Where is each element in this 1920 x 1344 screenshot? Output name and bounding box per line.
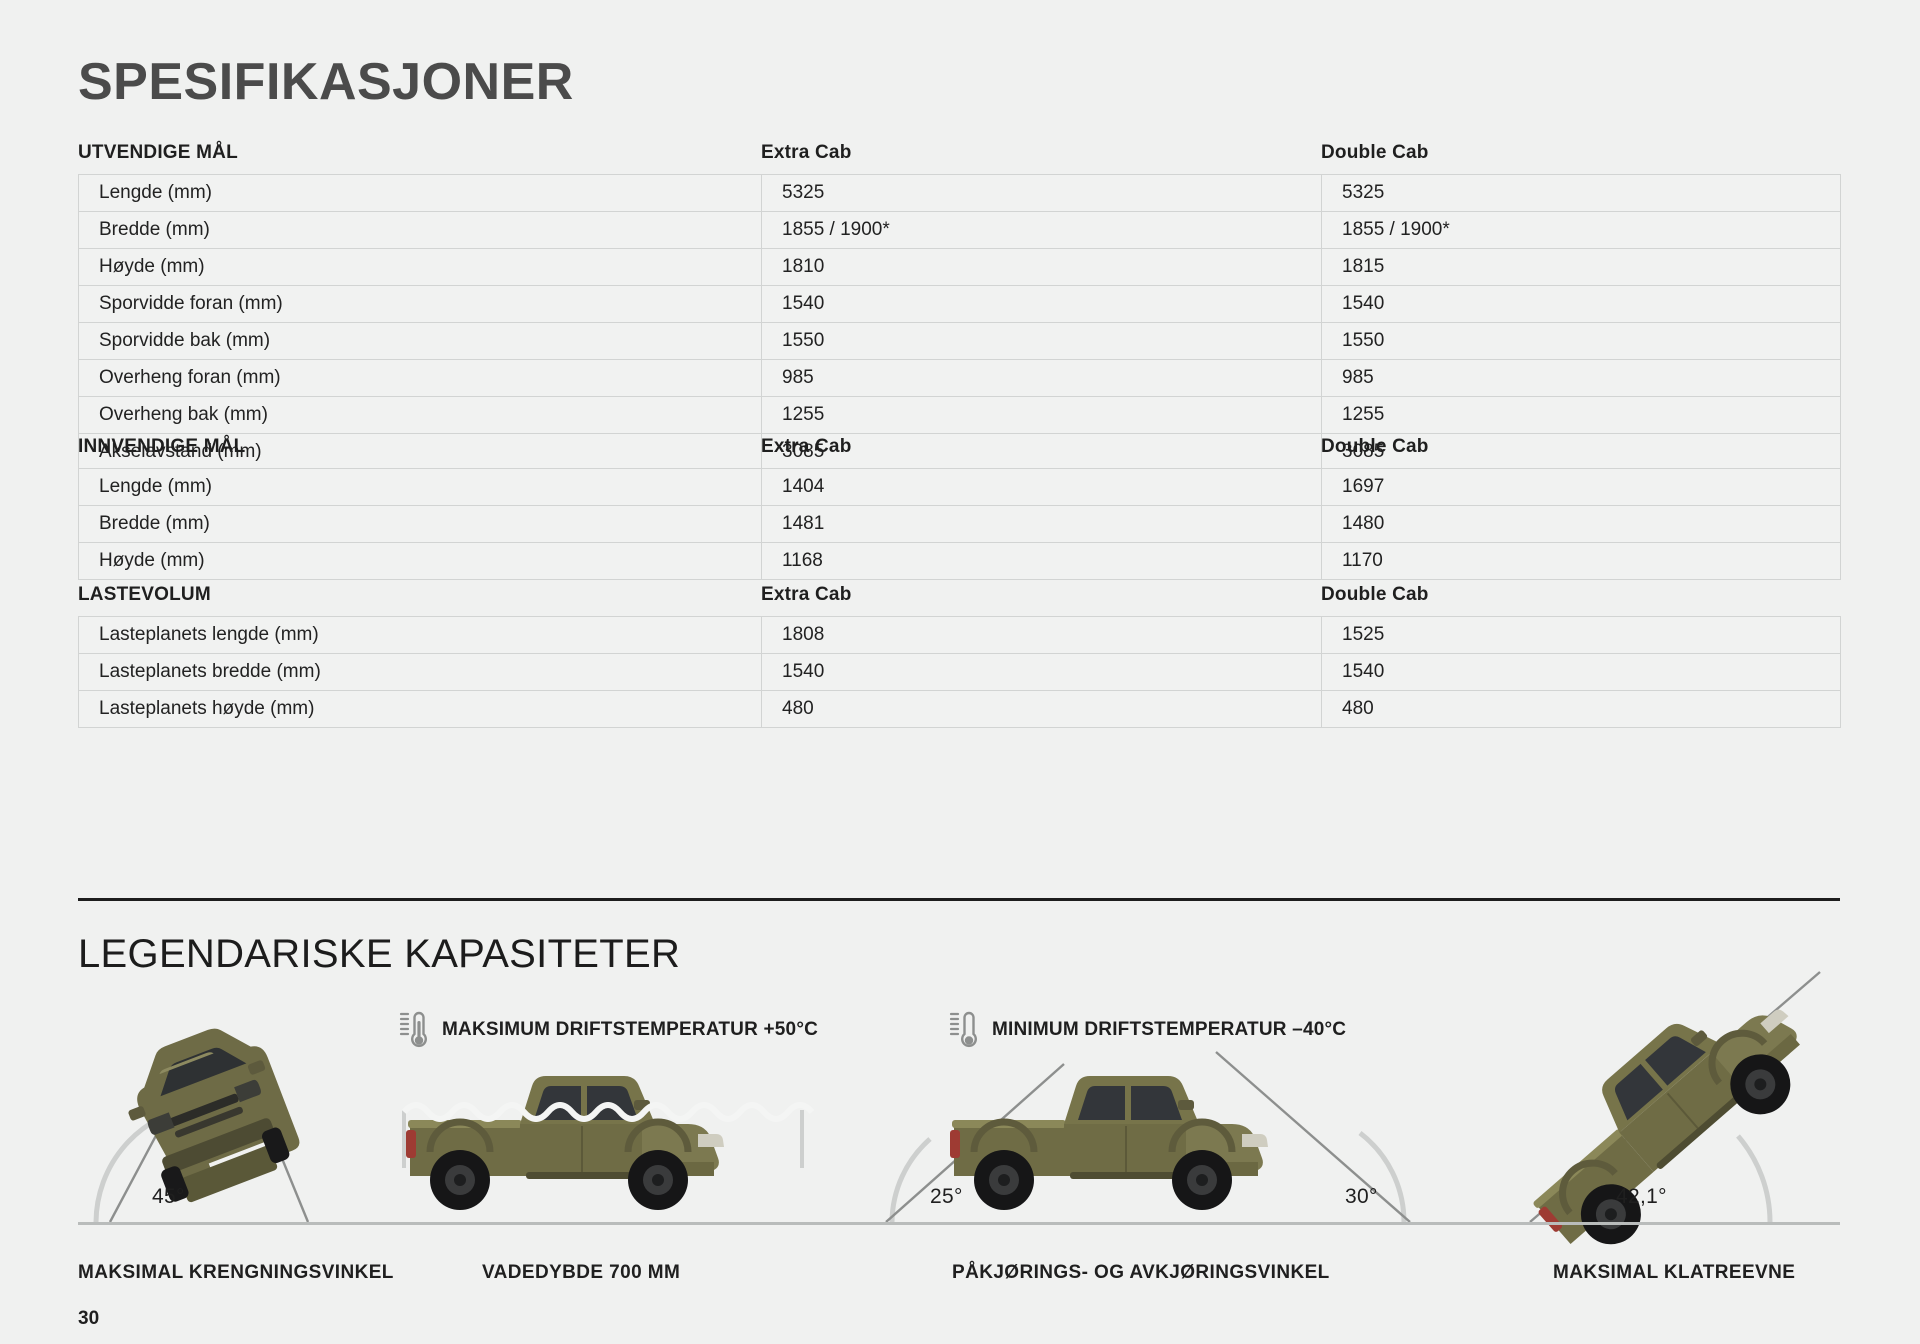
spec-row-double-cab-value: 1540 — [1322, 654, 1841, 691]
departure-angle-value: 30° — [1345, 1185, 1378, 1209]
spec-row-extra-cab-value: 1855 / 1900* — [762, 212, 1322, 249]
caption-max-tilt-angle: MAKSIMAL KRENGNINGSVINKEL — [78, 1262, 394, 1284]
spec-row-label: Lasteplanets bredde (mm) — [79, 654, 762, 691]
spec-row-double-cab-value: 5325 — [1322, 175, 1841, 212]
ground-line — [78, 1222, 1840, 1225]
spec-row-label: Sporvidde bak (mm) — [79, 323, 762, 360]
column-header-extra-cab: Extra Cab — [761, 436, 1321, 458]
spec-section-innvendige-mal: INNVENDIGE MÅL Extra Cab Double Cab Leng… — [78, 422, 1840, 580]
spec-section-header: LASTEVOLUM Extra Cab Double Cab — [78, 570, 1840, 606]
spec-section-title: UTVENDIGE MÅL — [78, 142, 761, 164]
spec-row-label: Lasteplanets høyde (mm) — [79, 691, 762, 728]
section-divider — [78, 898, 1840, 901]
table-row: Lengde (mm)53255325 — [79, 175, 1841, 212]
spec-section-utvendige-mal: UTVENDIGE MÅL Extra Cab Double Cab Lengd… — [78, 128, 1840, 471]
spec-page: SPESIFIKASJONER UTVENDIGE MÅL Extra Cab … — [0, 0, 1920, 1344]
table-row: Lengde (mm)14041697 — [79, 469, 1841, 506]
spec-row-double-cab-value: 985 — [1322, 360, 1841, 397]
table-row: Bredde (mm)14811480 — [79, 506, 1841, 543]
column-header-extra-cab: Extra Cab — [761, 142, 1321, 164]
spec-section-title: LASTEVOLUM — [78, 584, 761, 606]
spec-row-double-cab-value: 1550 — [1322, 323, 1841, 360]
spec-row-label: Bredde (mm) — [79, 506, 762, 543]
spec-row-double-cab-value: 1855 / 1900* — [1322, 212, 1841, 249]
table-row: Lasteplanets høyde (mm)480480 — [79, 691, 1841, 728]
tilt-angle-illustration — [78, 990, 398, 1225]
spec-row-extra-cab-value: 1550 — [762, 323, 1322, 360]
spec-row-extra-cab-value: 5325 — [762, 175, 1322, 212]
spec-row-double-cab-value: 1697 — [1322, 469, 1841, 506]
table-row: Lasteplanets bredde (mm)15401540 — [79, 654, 1841, 691]
spec-section-lastevolum: LASTEVOLUM Extra Cab Double Cab Lastepla… — [78, 570, 1840, 728]
spec-table: Lengde (mm)14041697Bredde (mm)14811480Hø… — [78, 468, 1841, 580]
spec-section-header: INNVENDIGE MÅL Extra Cab Double Cab — [78, 422, 1840, 458]
column-header-extra-cab: Extra Cab — [761, 584, 1321, 606]
page-number: 30 — [78, 1308, 99, 1330]
spec-row-double-cab-value: 1480 — [1322, 506, 1841, 543]
spec-row-label: Overheng foran (mm) — [79, 360, 762, 397]
wading-depth-illustration — [398, 990, 818, 1225]
spec-section-header: UTVENDIGE MÅL Extra Cab Double Cab — [78, 128, 1840, 164]
spec-row-extra-cab-value: 1404 — [762, 469, 1322, 506]
spec-row-extra-cab-value: 480 — [762, 691, 1322, 728]
caption-max-climb: MAKSIMAL KLATREEVNE — [1553, 1262, 1795, 1284]
spec-row-extra-cab-value: 1808 — [762, 617, 1322, 654]
spec-row-extra-cab-value: 1540 — [762, 286, 1322, 323]
spec-table: Lasteplanets lengde (mm)18081525Lastepla… — [78, 616, 1841, 728]
capabilities-title: LEGENDARISKE KAPASITETER — [78, 932, 680, 977]
approach-angle-value: 25° — [930, 1185, 963, 1209]
table-row: Bredde (mm)1855 / 1900*1855 / 1900* — [79, 212, 1841, 249]
climb-angle-value: 42,1° — [1616, 1185, 1667, 1209]
table-row: Sporvidde bak (mm)15501550 — [79, 323, 1841, 360]
spec-row-double-cab-value: 480 — [1322, 691, 1841, 728]
table-row: Lasteplanets lengde (mm)18081525 — [79, 617, 1841, 654]
spec-row-double-cab-value: 1525 — [1322, 617, 1841, 654]
spec-row-label: Lengde (mm) — [79, 469, 762, 506]
page-title: SPESIFIKASJONER — [78, 52, 574, 112]
spec-row-label: Bredde (mm) — [79, 212, 762, 249]
spec-section-title: INNVENDIGE MÅL — [78, 436, 761, 458]
spec-row-double-cab-value: 1815 — [1322, 249, 1841, 286]
table-row: Høyde (mm)18101815 — [79, 249, 1841, 286]
spec-row-extra-cab-value: 1810 — [762, 249, 1322, 286]
spec-row-label: Sporvidde foran (mm) — [79, 286, 762, 323]
caption-approach-departure-angle: PÅKJØRINGS- OG AVKJØRINGSVINKEL — [952, 1262, 1330, 1284]
column-header-double-cab: Double Cab — [1321, 436, 1840, 458]
caption-wading-depth: VADEDYBDE 700 MM — [482, 1262, 680, 1284]
table-row: Sporvidde foran (mm)15401540 — [79, 286, 1841, 323]
spec-row-double-cab-value: 1540 — [1322, 286, 1841, 323]
spec-row-extra-cab-value: 1540 — [762, 654, 1322, 691]
spec-row-extra-cab-value: 985 — [762, 360, 1322, 397]
spec-row-label: Lengde (mm) — [79, 175, 762, 212]
column-header-double-cab: Double Cab — [1321, 142, 1840, 164]
column-header-double-cab: Double Cab — [1321, 584, 1840, 606]
spec-row-label: Høyde (mm) — [79, 249, 762, 286]
table-row: Overheng foran (mm)985985 — [79, 360, 1841, 397]
spec-row-extra-cab-value: 1481 — [762, 506, 1322, 543]
tilt-angle-value: 45° — [152, 1185, 185, 1209]
spec-row-label: Lasteplanets lengde (mm) — [79, 617, 762, 654]
